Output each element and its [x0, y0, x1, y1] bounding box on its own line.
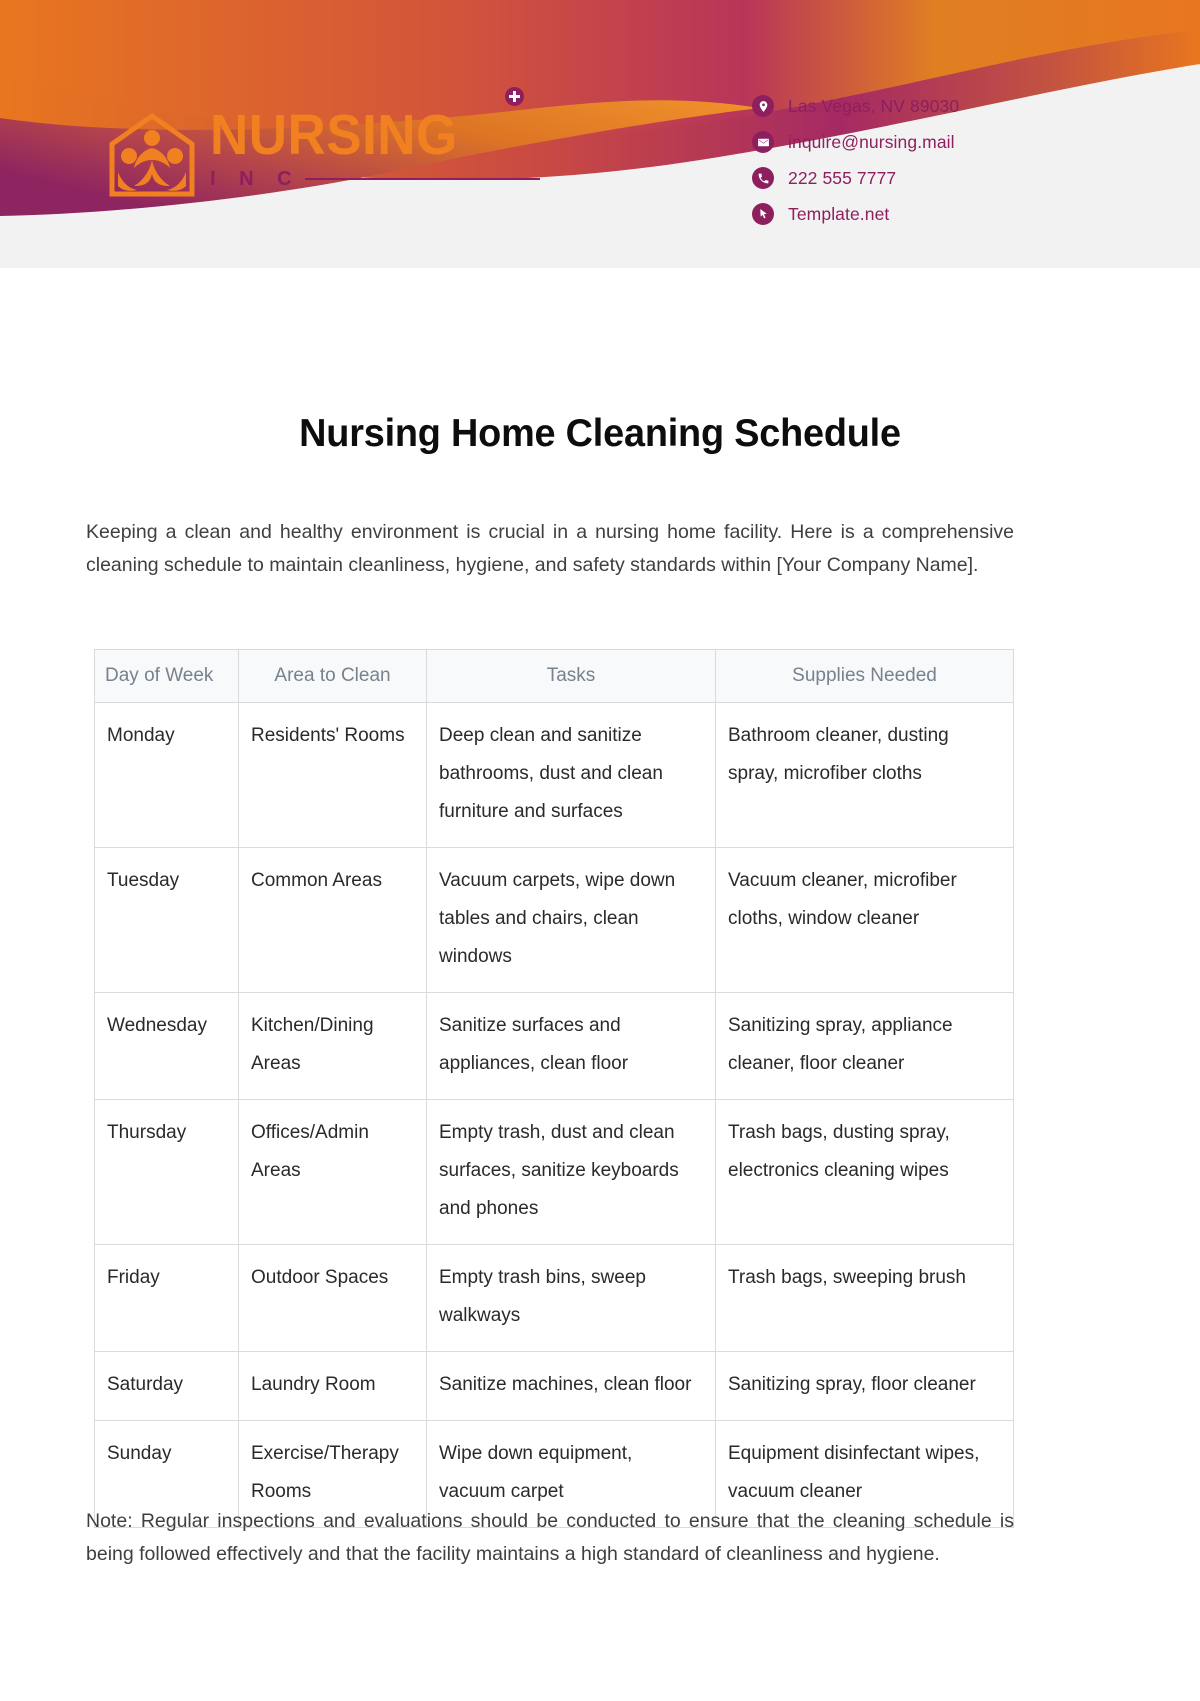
cell-area: Common Areas — [239, 848, 427, 993]
cell-tasks: Empty trash, dust and clean surfaces, sa… — [427, 1100, 716, 1245]
cell-day: Friday — [95, 1245, 239, 1352]
cell-area: Kitchen/Dining Areas — [239, 993, 427, 1100]
contact-address-text: Las Vegas, NV 89030 — [788, 96, 959, 117]
cell-day: Monday — [95, 703, 239, 848]
contact-item-email[interactable]: inquire@nursing.mail — [752, 131, 959, 153]
column-header-tasks: Tasks — [427, 650, 716, 703]
brand-underline-rule — [305, 178, 540, 180]
contact-info-list: Las Vegas, NV 89030 inquire@nursing.mail… — [752, 95, 959, 225]
cell-tasks: Sanitize surfaces and appliances, clean … — [427, 993, 716, 1100]
footer-note: Note: Regular inspections and evaluation… — [86, 1505, 1014, 1571]
cell-supplies: Sanitizing spray, appliance cleaner, flo… — [716, 993, 1014, 1100]
contact-item-website[interactable]: Template.net — [752, 203, 959, 225]
cursor-arrow-icon — [752, 203, 774, 225]
contact-phone-text: 222 555 7777 — [788, 168, 896, 189]
cell-day: Wednesday — [95, 993, 239, 1100]
cell-supplies: Sanitizing spray, floor cleaner — [716, 1352, 1014, 1421]
contact-email-text: inquire@nursing.mail — [788, 132, 955, 153]
page-title: Nursing Home Cleaning Schedule — [18, 412, 1182, 456]
cell-area: Residents' Rooms — [239, 703, 427, 848]
table-header: Day of Week Area to Clean Tasks Supplies… — [95, 650, 1014, 703]
cell-day: Saturday — [95, 1352, 239, 1421]
location-pin-icon — [752, 95, 774, 117]
cell-day: Thursday — [95, 1100, 239, 1245]
table-header-row: Day of Week Area to Clean Tasks Supplies… — [95, 650, 1014, 703]
contact-item-address: Las Vegas, NV 89030 — [752, 95, 959, 117]
cell-area: Offices/Admin Areas — [239, 1100, 427, 1245]
cell-tasks: Empty trash bins, sweep walkways — [427, 1245, 716, 1352]
column-header-day: Day of Week — [95, 650, 239, 703]
column-header-area: Area to Clean — [239, 650, 427, 703]
contact-item-phone[interactable]: 222 555 7777 — [752, 167, 959, 189]
cell-tasks: Deep clean and sanitize bathrooms, dust … — [427, 703, 716, 848]
table-row: Thursday Offices/Admin Areas Empty trash… — [95, 1100, 1014, 1245]
cell-supplies: Bathroom cleaner, dusting spray, microfi… — [716, 703, 1014, 848]
phone-icon — [752, 167, 774, 189]
cell-day: Tuesday — [95, 848, 239, 993]
table-row: Tuesday Common Areas Vacuum carpets, wip… — [95, 848, 1014, 993]
table-row: Monday Residents' Rooms Deep clean and s… — [95, 703, 1014, 848]
cell-area: Outdoor Spaces — [239, 1245, 427, 1352]
table-row: Saturday Laundry Room Sanitize machines,… — [95, 1352, 1014, 1421]
medical-cross-icon — [505, 87, 524, 106]
cleaning-schedule-table: Day of Week Area to Clean Tasks Supplies… — [94, 649, 1014, 1528]
cell-supplies: Trash bags, sweeping brush — [716, 1245, 1014, 1352]
cell-tasks: Vacuum carpets, wipe down tables and cha… — [427, 848, 716, 993]
intro-paragraph: Keeping a clean and healthy environment … — [86, 516, 1014, 582]
cell-tasks: Sanitize machines, clean floor — [427, 1352, 716, 1421]
contact-website-text: Template.net — [788, 204, 889, 225]
brand-logo: NURSING I N C — [104, 108, 540, 198]
cell-supplies: Trash bags, dusting spray, electronics c… — [716, 1100, 1014, 1245]
cell-supplies: Vacuum cleaner, microfiber cloths, windo… — [716, 848, 1014, 993]
house-with-family-icon — [104, 112, 200, 198]
cell-area: Laundry Room — [239, 1352, 427, 1421]
brand-name-secondary: I N C — [210, 168, 301, 191]
envelope-icon — [752, 131, 774, 153]
column-header-supplies: Supplies Needed — [716, 650, 1014, 703]
brand-name-primary: NURSING — [210, 108, 458, 162]
table-body: Monday Residents' Rooms Deep clean and s… — [95, 703, 1014, 1528]
table-row: Friday Outdoor Spaces Empty trash bins, … — [95, 1245, 1014, 1352]
table-row: Wednesday Kitchen/Dining Areas Sanitize … — [95, 993, 1014, 1100]
